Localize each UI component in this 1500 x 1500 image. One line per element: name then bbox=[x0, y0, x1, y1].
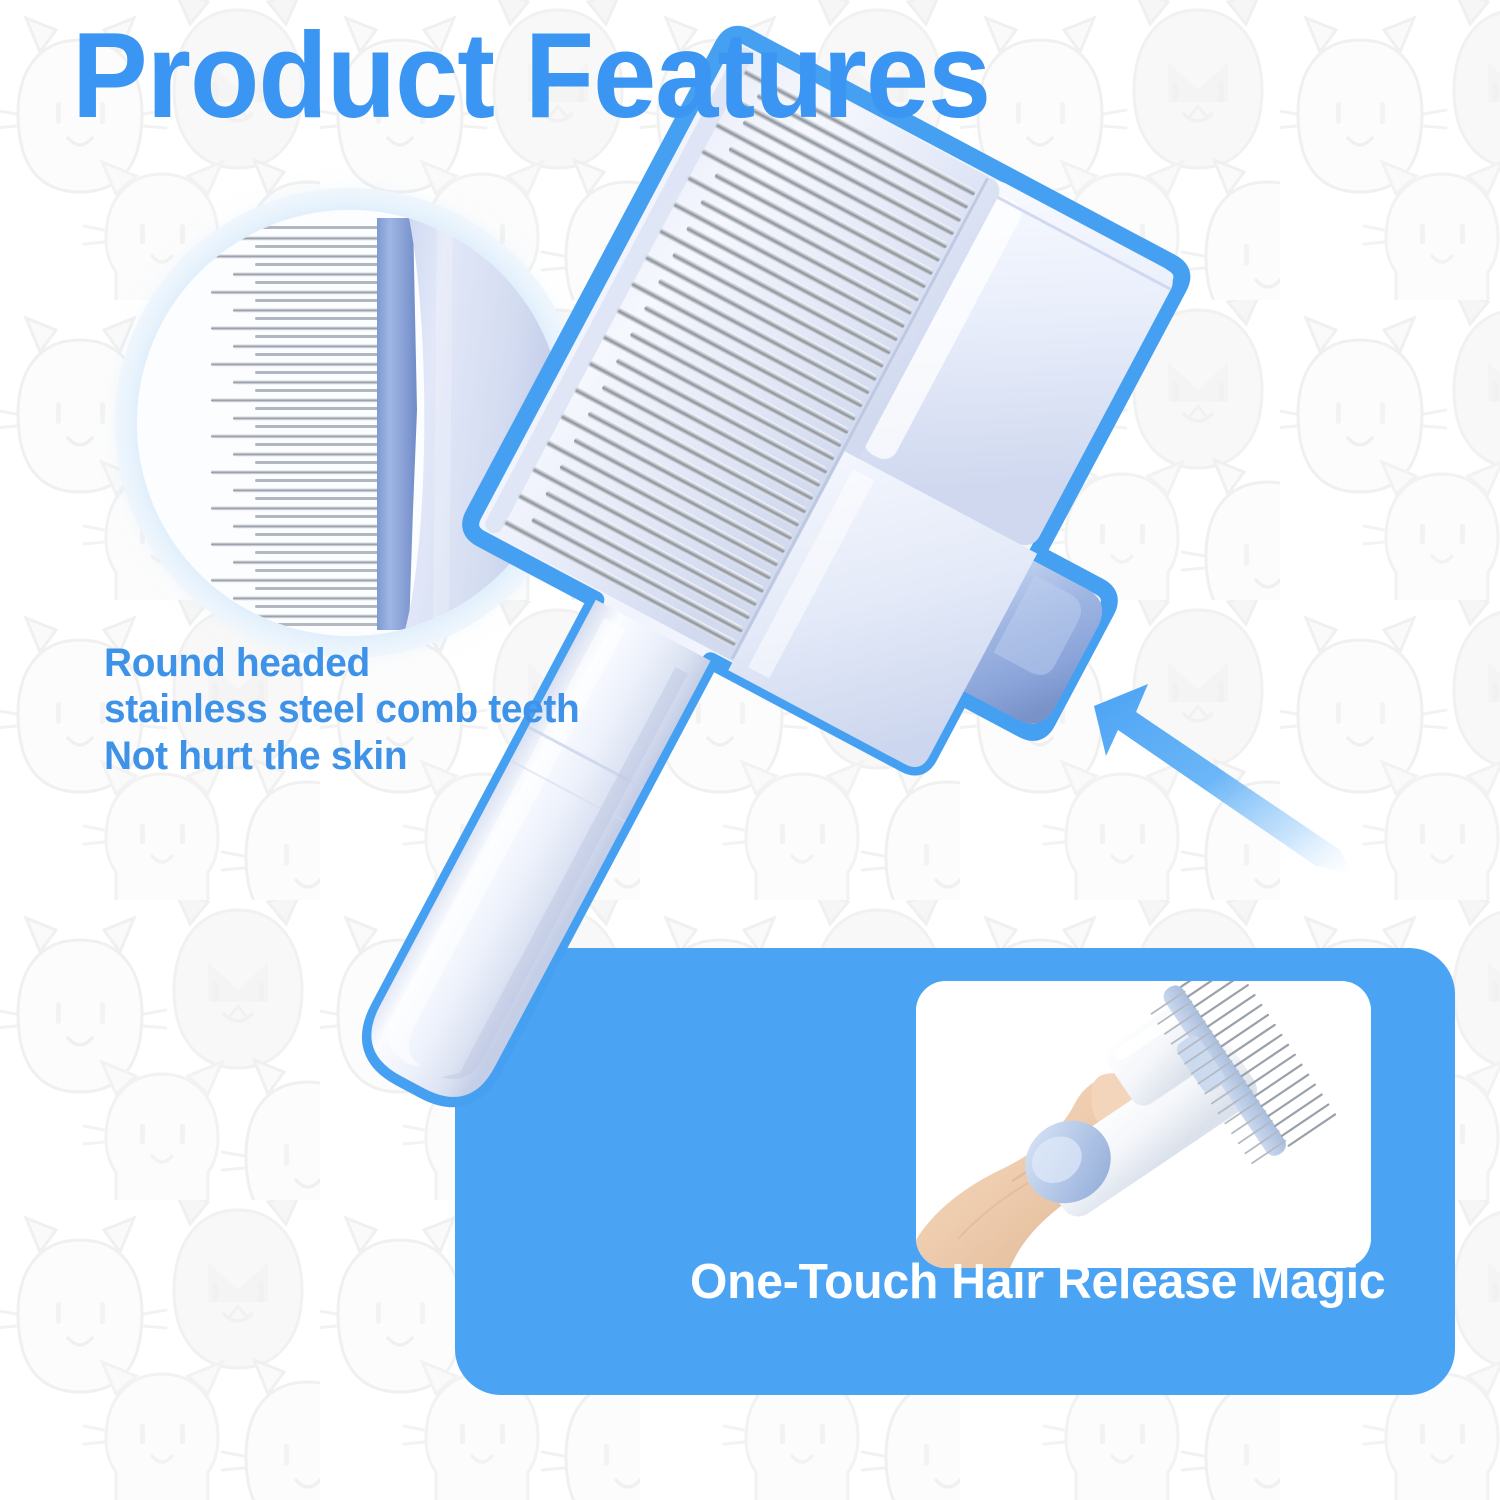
hand-holding-brush-photo bbox=[916, 981, 1371, 1268]
comb-teeth-closeup-inset bbox=[115, 188, 585, 658]
page-title: Product Features bbox=[72, 14, 990, 136]
feature-caption: Round headed stainless steel comb teeth … bbox=[104, 640, 594, 779]
feature-caption-line-1: Round headed bbox=[104, 640, 579, 686]
panel-caption: One-Touch Hair Release Magic bbox=[690, 1258, 1385, 1307]
feature-caption-line-3: Not hurt the skin bbox=[104, 733, 579, 779]
callout-arrow-to-button bbox=[1090, 660, 1420, 880]
infographic-canvas: Product Features bbox=[0, 0, 1500, 1500]
feature-caption-line-2: stainless steel comb teeth bbox=[104, 686, 579, 732]
circle-photo-clip bbox=[137, 210, 563, 636]
